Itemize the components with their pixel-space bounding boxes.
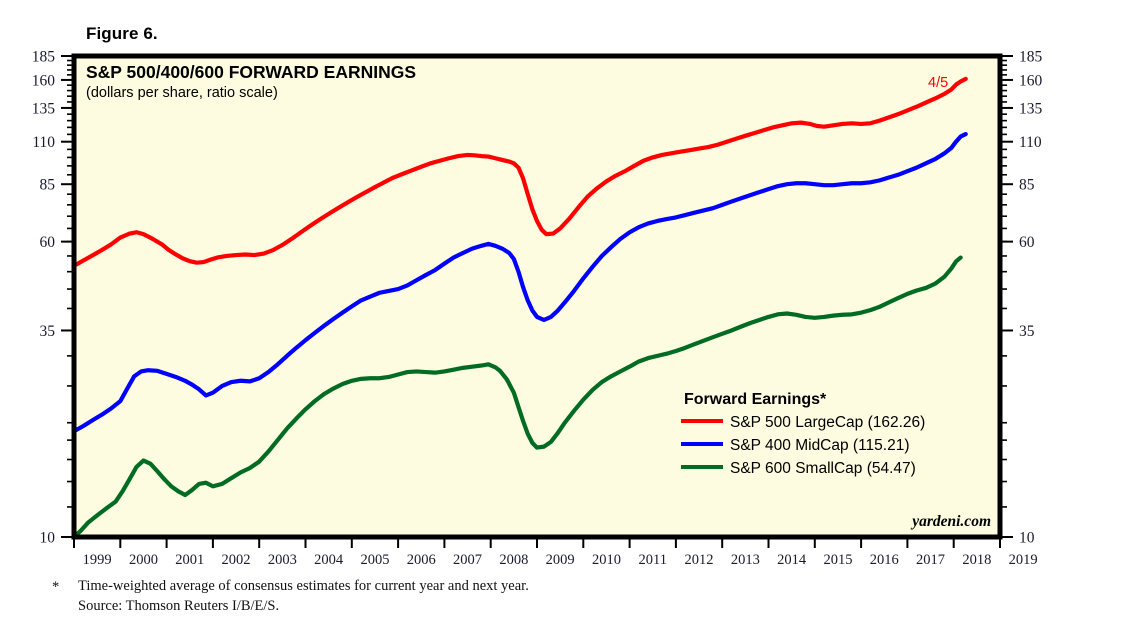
y-tick-label-right: 10	[1019, 530, 1035, 547]
legend-title: Forward Earnings*	[684, 391, 827, 408]
y-tick-label: 35	[40, 323, 56, 340]
x-tick-label: 2007	[453, 552, 482, 568]
x-tick-label: 2008	[499, 552, 528, 568]
legend-label-2: S&P 600 SmallCap (54.47)	[730, 460, 916, 477]
x-tick-label: 2011	[639, 552, 667, 568]
date-flag-label: 4/5	[928, 75, 948, 91]
y-tick-label: 10	[40, 530, 56, 547]
y-tick-label-right: 185	[1019, 49, 1043, 66]
forward-earnings-chart: 10356085110135160185 1035608511013516018…	[0, 0, 1138, 575]
plot-subtitle: (dollars per share, ratio scale)	[86, 85, 278, 101]
x-tick-label: 2017	[916, 552, 945, 568]
x-tick-label: 2009	[546, 552, 575, 568]
x-tick-label: 2006	[407, 552, 436, 568]
x-tick-label: 2001	[175, 552, 204, 568]
y-tick-label: 185	[32, 49, 56, 66]
x-tick-label: 2003	[268, 552, 297, 568]
y-tick-label-right: 85	[1019, 177, 1035, 194]
x-tick-label: 1999	[83, 552, 112, 568]
y-tick-label-right: 160	[1019, 72, 1043, 89]
x-tick-label: 2016	[870, 552, 899, 568]
x-tick-label: 2005	[360, 552, 389, 568]
y-tick-label: 85	[40, 177, 56, 194]
y-tick-label: 110	[32, 134, 55, 151]
footnote-star: *	[52, 578, 59, 598]
x-tick-label: 2013	[731, 552, 760, 568]
footnote-source: Source: Thomson Reuters I/B/E/S.	[78, 597, 529, 617]
chart-svg: 10356085110135160185 1035608511013516018…	[0, 0, 1138, 570]
left-axis-labels: 10356085110135160185	[32, 49, 56, 547]
x-tick-label: 2000	[129, 552, 158, 568]
legend-label-0: S&P 500 LargeCap (162.26)	[730, 414, 925, 431]
x-tick-label: 2010	[592, 552, 621, 568]
x-tick-label: 2015	[823, 552, 852, 568]
watermark: yardeni.com	[910, 513, 991, 530]
plot-title: S&P 500/400/600 FORWARD EARNINGS	[86, 62, 416, 82]
x-tick-label: 2002	[222, 552, 251, 568]
x-tick-label: 2014	[777, 552, 807, 568]
y-tick-label: 135	[32, 100, 56, 117]
y-tick-label: 60	[40, 234, 56, 251]
y-tick-label-right: 110	[1019, 134, 1042, 151]
right-axis-labels: 10356085110135160185	[1019, 49, 1043, 547]
y-tick-label: 160	[32, 72, 56, 89]
x-tick-label: 2019	[1009, 552, 1038, 568]
x-tick-label: 2004	[314, 552, 344, 568]
footnotes: * Time-weighted average of consensus est…	[52, 577, 529, 616]
y-tick-label-right: 60	[1019, 234, 1035, 251]
x-axis-labels: 1999200020012002200320042005200620072008…	[83, 552, 1038, 568]
y-tick-label-right: 35	[1019, 323, 1035, 340]
x-tick-label: 2012	[685, 552, 714, 568]
y-tick-label-right: 135	[1019, 100, 1043, 117]
legend-label-1: S&P 400 MidCap (115.21)	[730, 437, 910, 454]
footnote-note: Time-weighted average of consensus estim…	[78, 577, 529, 597]
x-tick-label: 2018	[962, 552, 991, 568]
